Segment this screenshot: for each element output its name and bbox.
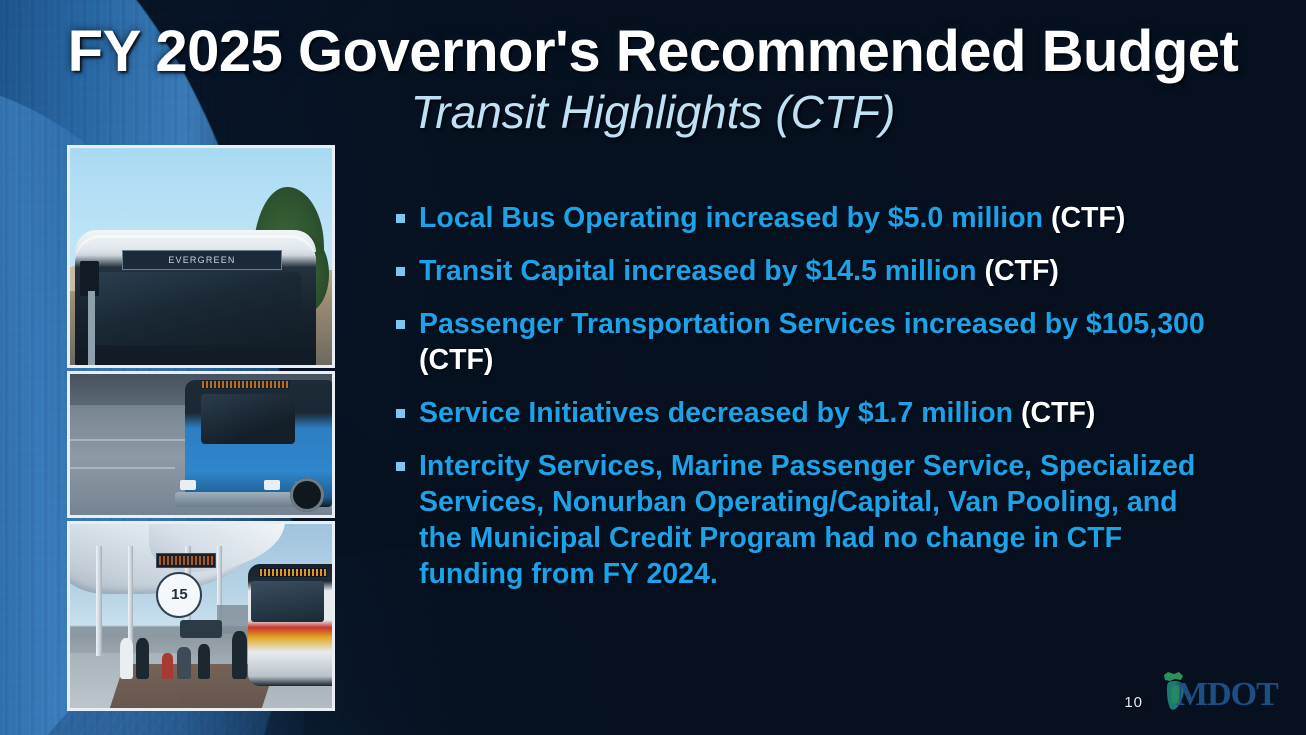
bullet-text: Intercity Services, Marine Passenger Ser… <box>419 450 1195 590</box>
bus-destination-sign: EVERGREEN <box>122 250 281 270</box>
bullet-text: Transit Capital increased by $14.5 milli… <box>419 255 984 287</box>
photo-blue-city-bus <box>67 371 335 518</box>
bus-headlight-left <box>180 480 196 490</box>
page-number: 10 <box>1124 694 1143 711</box>
bullet-fund-tag: (CTF) <box>1051 202 1125 234</box>
bullet-item-local-bus-operating: Local Bus Operating increased by $5.0 mi… <box>393 200 1223 236</box>
route-number-text: 15 <box>158 574 200 616</box>
person-waiting-1 <box>120 638 133 678</box>
bus-led-destination-sign <box>201 380 290 390</box>
person-waiting-3 <box>162 653 174 679</box>
bus-windshield <box>251 581 324 621</box>
bullet-list: Local Bus Operating increased by $5.0 mi… <box>393 200 1223 609</box>
mdot-logo: MDOT <box>1148 669 1298 717</box>
bullet-item-service-initiatives: Service Initiatives decreased by $1.7 mi… <box>393 395 1223 431</box>
person-waiting-6 <box>232 631 246 679</box>
bullet-square-icon <box>396 409 405 418</box>
slide: FY 2025 Governor's Recommended Budget Tr… <box>0 0 1306 735</box>
bullet-text: Local Bus Operating increased by $5.0 mi… <box>419 202 1051 234</box>
bullet-square-icon <box>396 462 405 471</box>
bullet-fund-tag: (CTF) <box>419 344 493 376</box>
distant-bus <box>180 620 222 638</box>
bullet-fund-tag: (CTF) <box>984 255 1058 287</box>
bus-windshield <box>91 272 301 346</box>
bullet-item-passenger-transportation-services: Passenger Transportation Services increa… <box>393 306 1223 378</box>
canopy-column-1 <box>96 546 102 656</box>
page-subtitle: Transit Highlights (CTF) <box>0 87 1306 138</box>
bullet-square-icon <box>396 214 405 223</box>
route-number-sign: 15 <box>156 572 202 618</box>
photo-transit-center-platform: 15 <box>67 521 335 711</box>
bus-windshield <box>201 394 295 445</box>
bus-bumper <box>175 492 306 506</box>
page-title: FY 2025 Governor's Recommended Budget <box>0 22 1306 83</box>
bullet-fund-tag: (CTF) <box>1021 397 1095 429</box>
title-block: FY 2025 Governor's Recommended Budget Tr… <box>0 22 1306 137</box>
photo-bus-front-evergreen: EVERGREEN <box>67 145 335 368</box>
mdot-wordmark-text: MDOT <box>1176 676 1279 713</box>
person-waiting-2 <box>136 638 149 678</box>
road-marking-secondary <box>70 467 175 469</box>
bullet-item-transit-capital: Transit Capital increased by $14.5 milli… <box>393 253 1223 289</box>
photo-column: EVERGREEN <box>67 145 335 711</box>
bullet-item-no-change-programs: Intercity Services, Marine Passenger Ser… <box>393 448 1223 592</box>
mdot-logo-svg: MDOT <box>1148 669 1298 717</box>
platform-led-sign <box>156 553 216 568</box>
bus-headlight-right <box>264 480 280 490</box>
person-waiting-4 <box>177 647 190 678</box>
bullet-square-icon <box>396 267 405 276</box>
bus-led-destination-sign <box>259 568 327 577</box>
bullet-text: Service Initiatives decreased by $1.7 mi… <box>419 397 1021 429</box>
person-waiting-5 <box>198 644 210 679</box>
bus-destination-text: EVERGREEN <box>168 255 235 265</box>
street-pole <box>88 291 95 365</box>
bullet-square-icon <box>396 320 405 329</box>
bullet-text: Passenger Transportation Services increa… <box>419 308 1205 340</box>
